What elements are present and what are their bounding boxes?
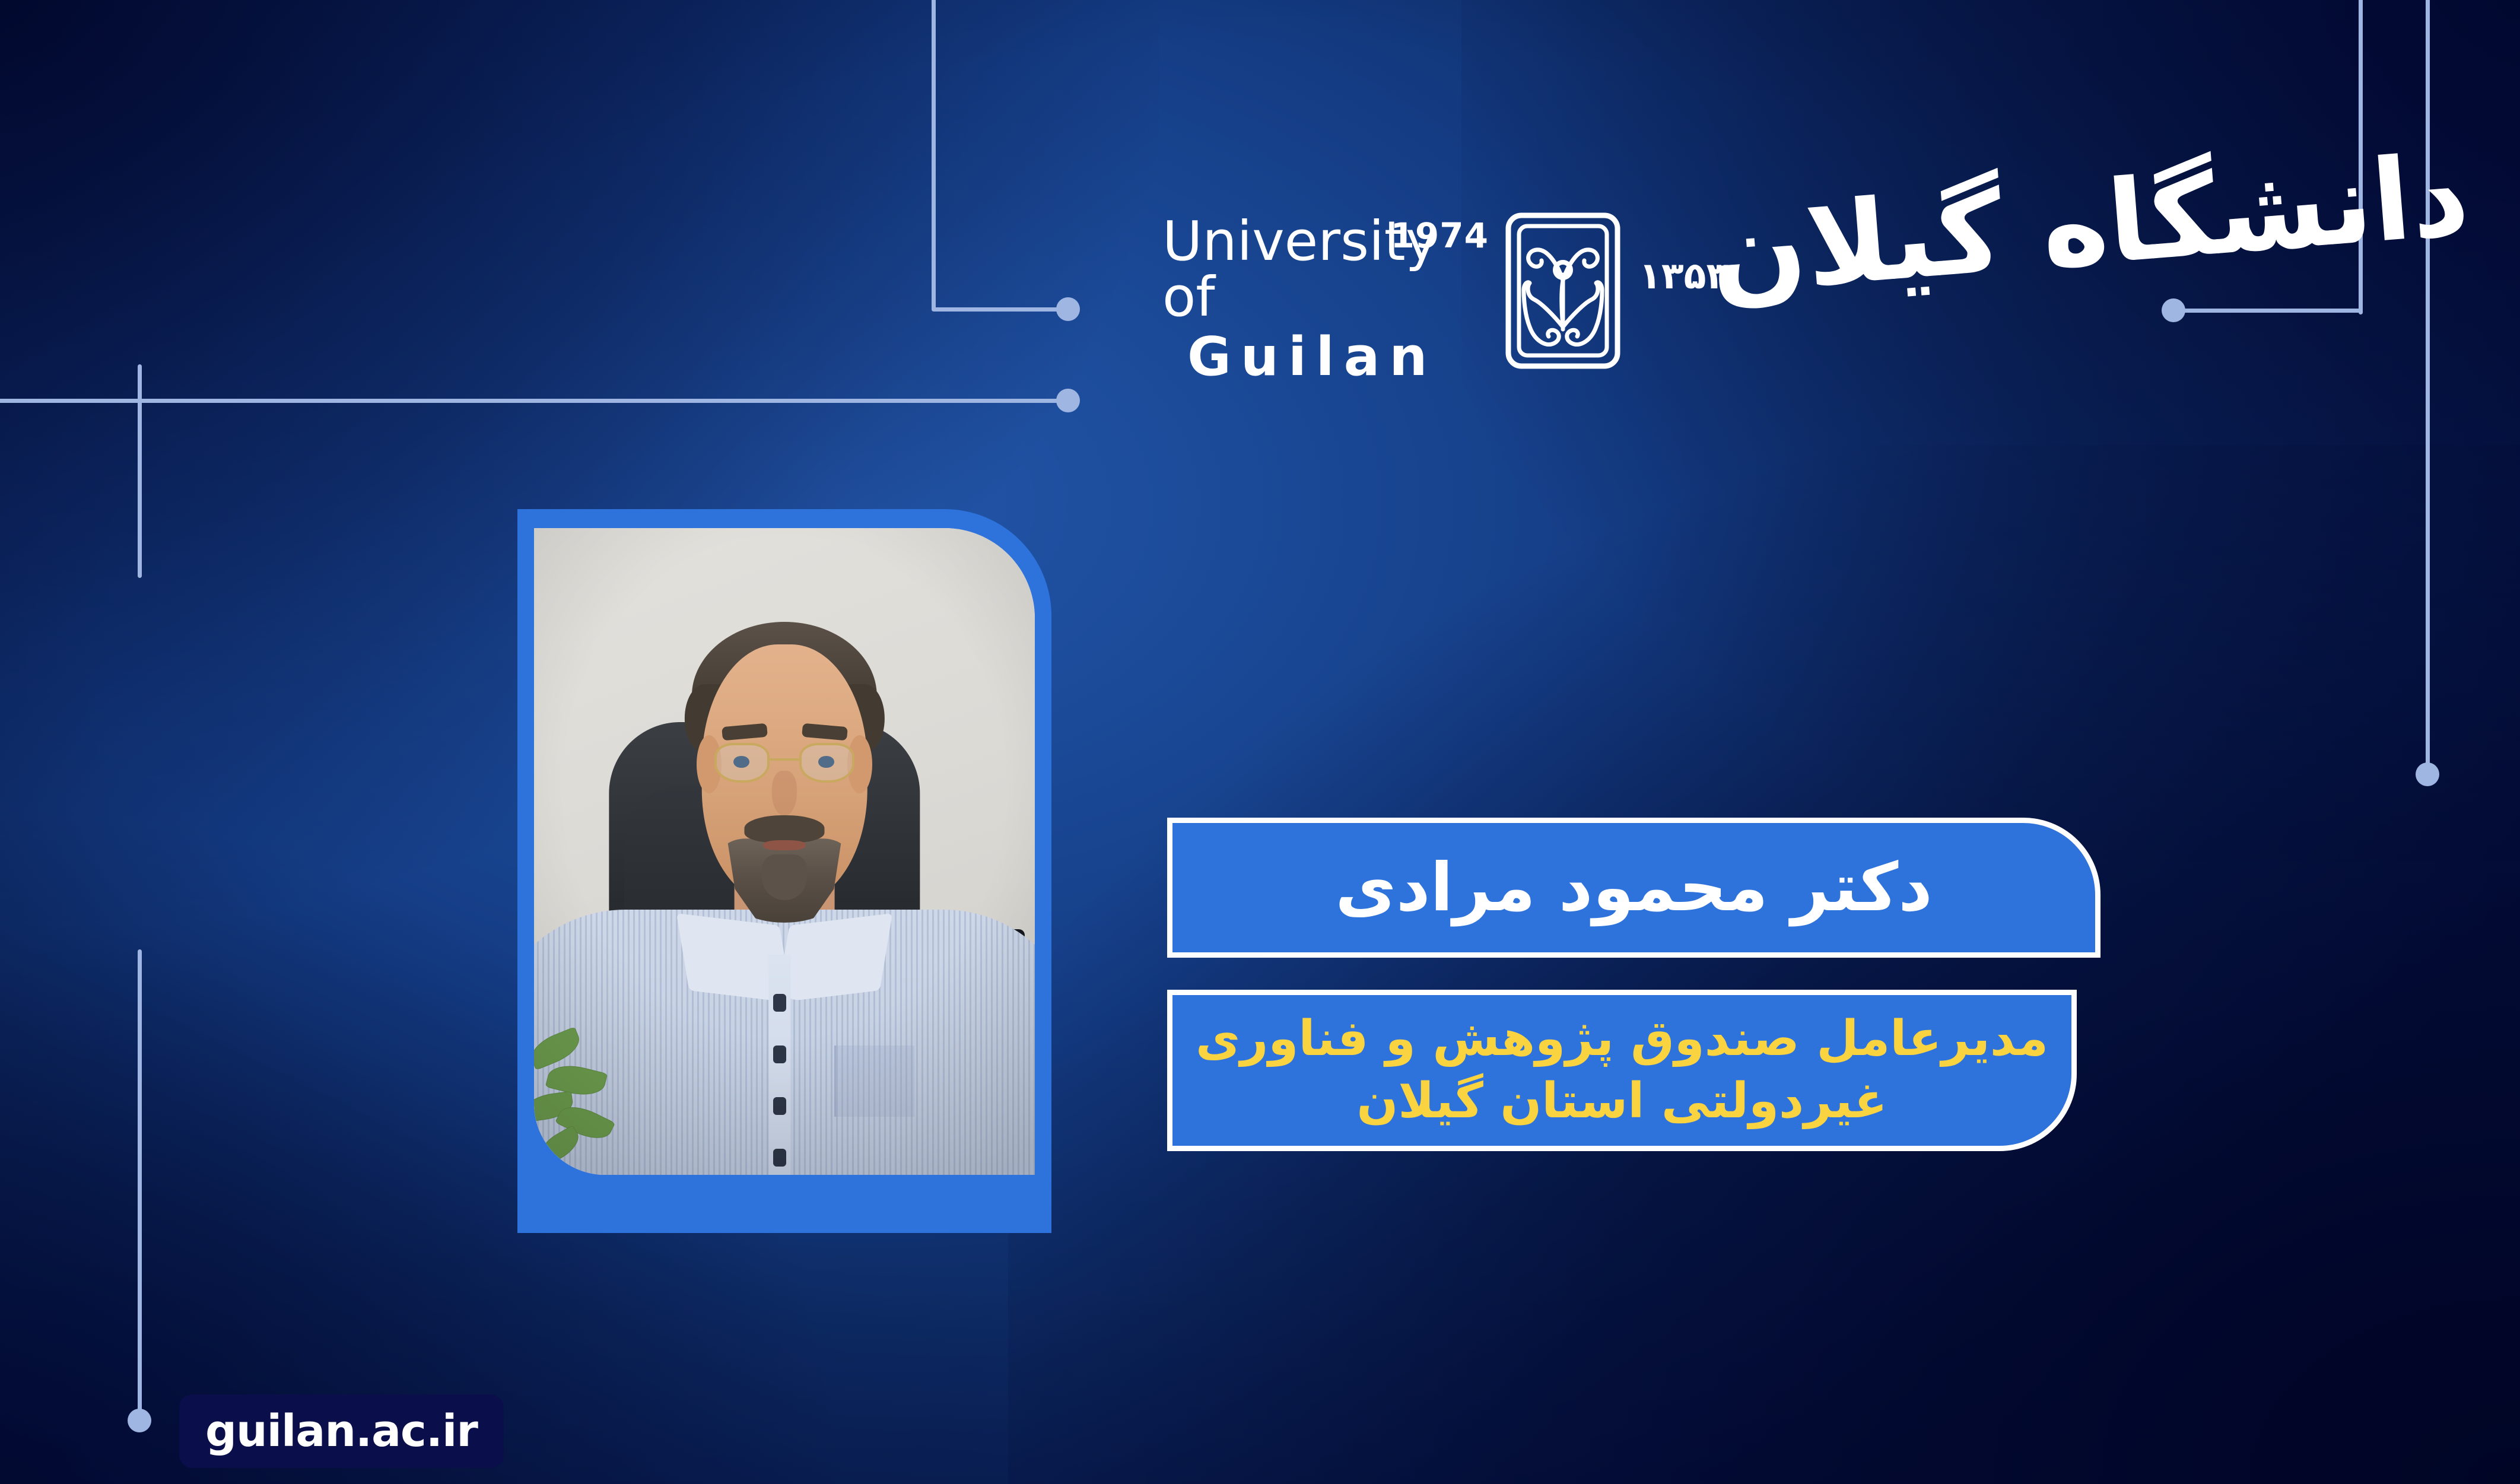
deco-dot-right [2416,762,2439,786]
university-logo: 1974 University of Guilan ۱۳۵۳ د [1160,196,2086,386]
photo-vignette [534,528,1035,1175]
speaker-name-banner: دکتر محمود مرادی [1167,818,2100,958]
deco-line-upper-cross-vertical [138,364,142,578]
website-url-badge[interactable]: guilan.ac.ir [179,1394,504,1468]
deco-dot-top-right [2162,298,2185,322]
deco-line-top-left-horizontal [932,307,1068,312]
speaker-title-line-1: مدیرعامل صندوق پژوهش و فناوری [1196,1008,2048,1070]
guilan-butterfly-emblem-icon [1496,202,1629,380]
logo-english-text: 1974 University of Guilan [1160,202,1492,380]
deco-line-top-left-vertical [932,0,936,311]
portrait-frame [517,509,1051,1233]
speaker-name: دکتر محمود مرادی [1335,854,1932,921]
deco-line-right-vertical [2426,0,2430,768]
deco-dot-upper [1056,389,1080,412]
deco-line-top-right-horizontal [2172,309,2363,313]
logo-founding-year-en: 1974 [1391,218,1489,253]
website-url-text: guilan.ac.ir [205,1409,478,1453]
deco-line-upper-horizontal [0,399,1068,403]
poster-canvas: 1974 University of Guilan ۱۳۵۳ د [0,0,2520,1484]
speaker-photo [534,528,1035,1175]
logo-name-en-line2: Guilan [1160,330,1492,384]
deco-dot-bottom-left [128,1409,151,1432]
speaker-title-line-2: غیردولتی استان گیلان [1356,1070,1887,1133]
logo-persian-text: ۱۳۵۳ دانشگاه گیلان [1633,202,2048,380]
deco-dot-top-left [1056,297,1080,321]
speaker-title-banner: مدیرعامل صندوق پژوهش و فناوری غیردولتی ا… [1167,990,2077,1151]
deco-line-bottom-left-vertical [138,949,142,1418]
